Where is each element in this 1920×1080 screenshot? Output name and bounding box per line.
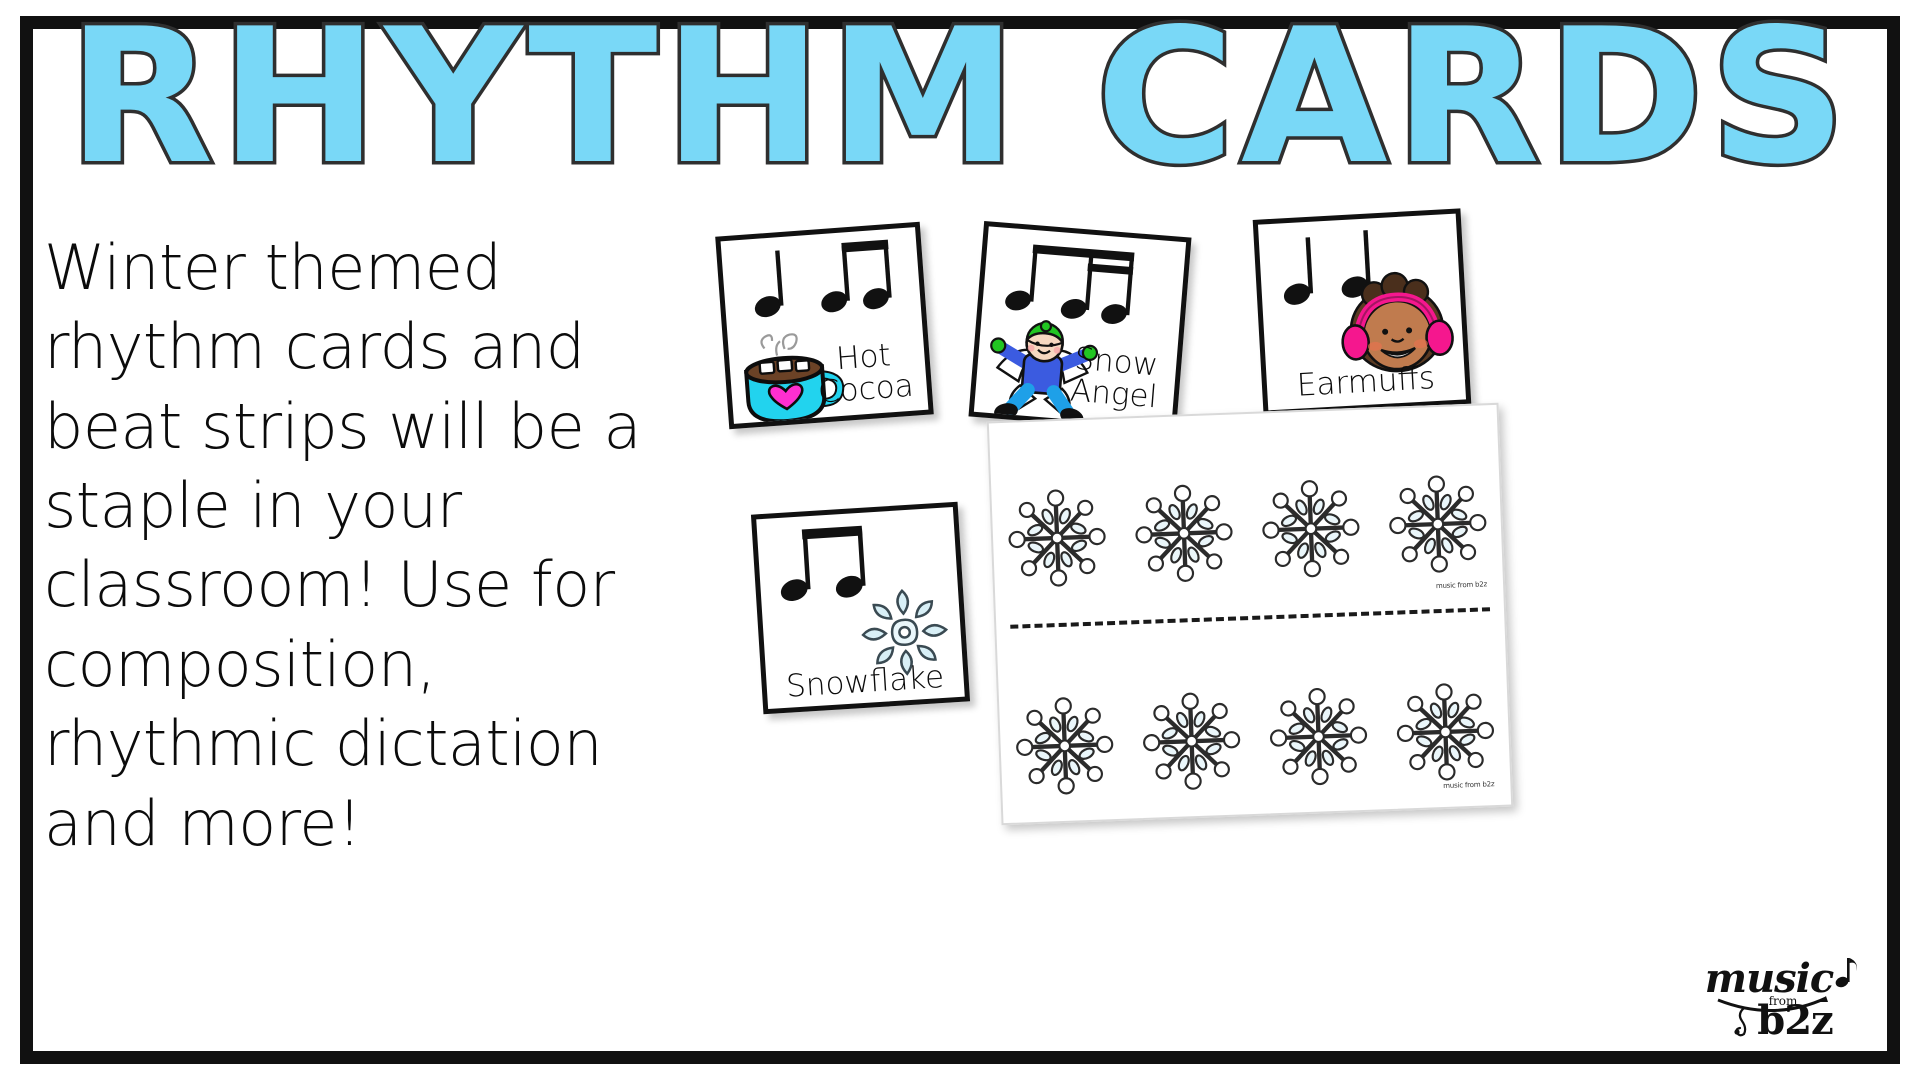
beat-strip-row-1 (990, 447, 1503, 616)
card-label-earmuffs: Earmuffs (1266, 361, 1466, 405)
card-label-line-1: Earmuffs (1266, 361, 1466, 405)
brand-logo[interactable]: music from b2z (1690, 956, 1876, 1052)
card-label-line-1: Snowflake (766, 660, 965, 705)
card-label-snowflake: Snowflake (766, 660, 965, 705)
snowflake-icon (1254, 473, 1366, 585)
logo-swoosh-arrow-icon (1714, 996, 1834, 1016)
description-text: Winter themed rhythm cards and beat stri… (44, 228, 684, 863)
snowflake-icon (1389, 676, 1501, 788)
snowflake-icon (1008, 690, 1120, 802)
beat-strip-row-2 (998, 655, 1511, 824)
card-label-line-2: Cocoa (810, 370, 922, 411)
snowflake-icon (1135, 685, 1247, 797)
eighth-note-icon (1835, 956, 1861, 990)
card-label-hot-cocoa: Hot Cocoa (807, 337, 921, 410)
snowflake-icon (1262, 681, 1374, 793)
snowflake-icon (1128, 477, 1240, 589)
music-notation-quarter-plus-eighths (721, 227, 922, 336)
poster-canvas: RHYTHM CARDS Winter themed rhythm cards … (0, 0, 1920, 1080)
logo-word-music: music (1705, 961, 1833, 998)
rhythm-card-snow-angel[interactable]: Snow Angel (968, 221, 1191, 433)
logo-top-row: music (1690, 956, 1876, 998)
rhythm-card-earmuffs[interactable]: Earmuffs (1253, 208, 1472, 415)
rhythm-card-snowflake[interactable]: Snowflake (751, 502, 970, 715)
rhythm-card-hot-cocoa[interactable]: Hot Cocoa (715, 222, 934, 429)
snowflake-icon (1001, 482, 1113, 594)
beat-strip-sheet[interactable]: music from b2z (987, 403, 1513, 825)
snowflake-icon (1381, 468, 1493, 580)
card-label-snow-angel: Snow Angel (1057, 341, 1174, 415)
